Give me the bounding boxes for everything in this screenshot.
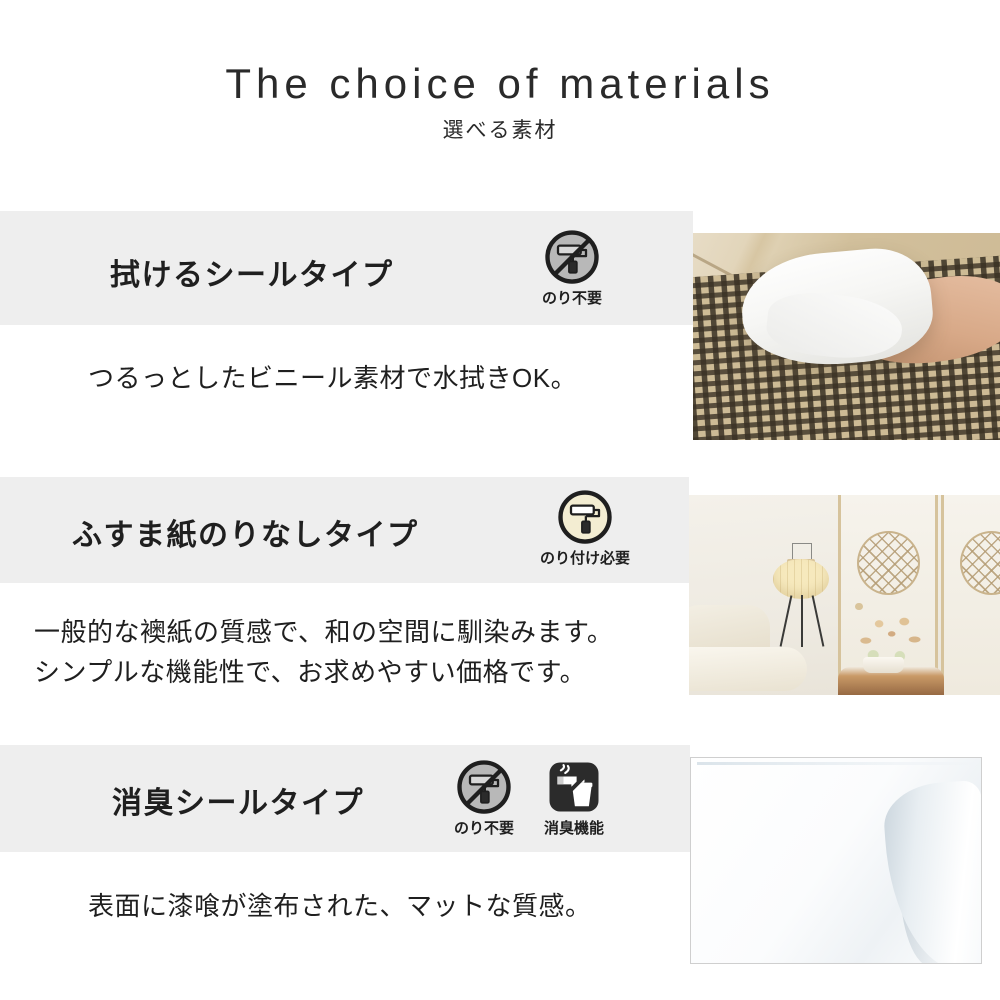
deodorizing-function-icon bbox=[546, 759, 602, 815]
no-glue-roller-icon bbox=[456, 759, 512, 815]
lattice-circle-left bbox=[857, 531, 920, 595]
fusuma-panel-right bbox=[941, 495, 1000, 695]
photo-wiping-rattan-panel-with-towel bbox=[693, 233, 1000, 440]
section-2-badges: のり付け必要 bbox=[520, 489, 650, 568]
section-3-band: 消臭シールタイプ のり不要 bbox=[0, 745, 690, 852]
section-2-band: ふすま紙のりなしタイプ のり付け必要 bbox=[0, 477, 689, 583]
paper-top-edge bbox=[697, 762, 975, 765]
badge-no-glue: のり不要 bbox=[447, 759, 521, 838]
paper-lantern-shade bbox=[773, 559, 829, 599]
page-header: The choice of materials 選べる素材 bbox=[0, 0, 1000, 200]
page-title-en: The choice of materials bbox=[0, 60, 1000, 108]
no-glue-roller-icon bbox=[544, 229, 600, 285]
armchair-seat bbox=[689, 647, 807, 691]
section-3-description: 表面に漆喰が塗布された、マットな質感。 bbox=[88, 886, 592, 926]
glue-required-roller-icon bbox=[557, 489, 613, 545]
section-3-badges: のり不要 消臭機能 bbox=[447, 759, 611, 838]
section-1-title: 拭けるシールタイプ bbox=[110, 250, 394, 294]
pampas-grass-plant bbox=[851, 607, 926, 663]
badge-glue-required-label: のり付け必要 bbox=[520, 547, 650, 568]
badge-no-glue: のり不要 bbox=[535, 229, 609, 308]
badge-deodorizing-label: 消臭機能 bbox=[537, 817, 611, 838]
section-2-title: ふすま紙のりなしタイプ bbox=[72, 510, 419, 554]
badge-deodorizing: 消臭機能 bbox=[537, 759, 611, 838]
photo-japanese-interior-with-fusuma bbox=[689, 495, 1000, 695]
badge-no-glue-label: のり不要 bbox=[535, 287, 609, 308]
lamp-leg-middle bbox=[801, 595, 803, 647]
section-3-title: 消臭シールタイプ bbox=[112, 778, 364, 822]
plant-pot bbox=[863, 657, 903, 673]
section-2-description: 一般的な襖紙の質感で、和の空間に馴染みます。 シンプルな機能性で、お求めやすい価… bbox=[34, 612, 613, 693]
page-title-jp: 選べる素材 bbox=[0, 114, 1000, 144]
section-1-description: つるっとしたビニール素材で水拭きOK。 bbox=[88, 358, 577, 398]
section-1-badges: のり不要 bbox=[535, 229, 609, 308]
section-1-band: 拭けるシールタイプ のり不要 bbox=[0, 211, 693, 325]
badge-glue-required: のり付け必要 bbox=[520, 489, 650, 568]
badge-no-glue-label: のり不要 bbox=[447, 817, 521, 838]
photo-white-curled-paper-sheet bbox=[690, 757, 982, 964]
